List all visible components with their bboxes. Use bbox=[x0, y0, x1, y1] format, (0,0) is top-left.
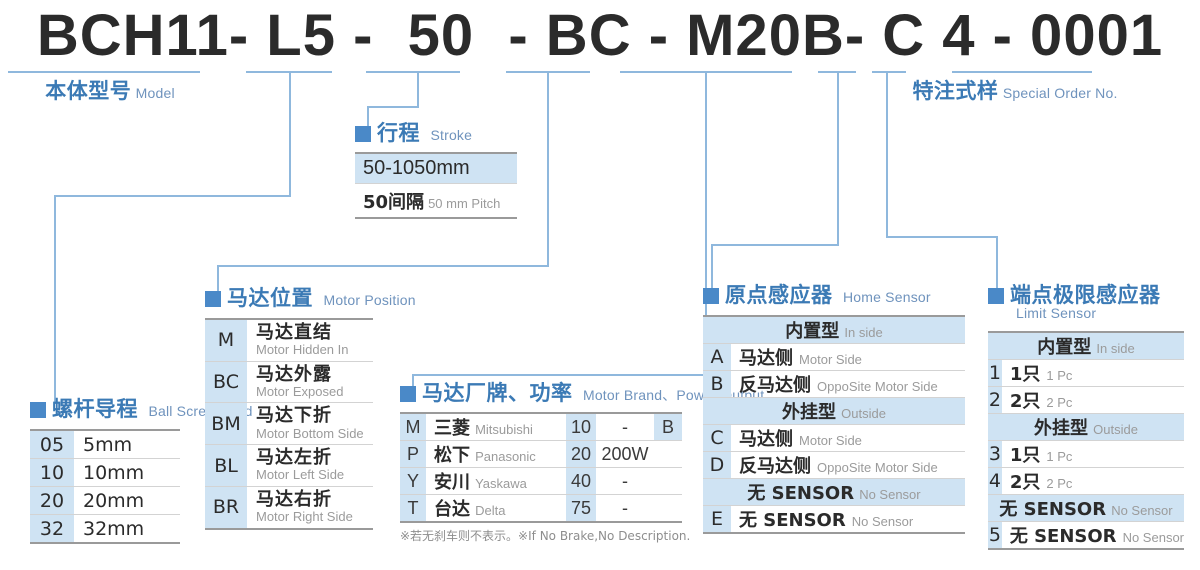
motor-brand-table: M 三菱 Mitsubishi 10 - B P 松下 Panasonic 20… bbox=[400, 412, 682, 523]
row-power-code: 75 bbox=[566, 495, 596, 523]
row-value-zh: 2只 bbox=[1010, 472, 1041, 493]
row-power-value: - bbox=[596, 468, 654, 495]
motor-position-zh-title: 马达位置 bbox=[227, 286, 313, 310]
table-row[interactable]: D 反马达侧 OppoSite Motor Side bbox=[703, 452, 965, 479]
row-value-zh: 马达右折 bbox=[256, 490, 373, 510]
row-value: 10mm bbox=[74, 459, 180, 487]
group-zh: 内置型 bbox=[785, 321, 839, 342]
row-value-en: Motor Left Side bbox=[256, 468, 373, 483]
stroke-table: 50-1050mm 50间隔50 mm Pitch bbox=[355, 152, 517, 219]
row-brand: 台达 Delta bbox=[426, 495, 566, 523]
limit-sensor-heading: 端点极限感应器 Limit Sensor bbox=[988, 284, 1200, 322]
table-row[interactable]: A 马达侧 Motor Side bbox=[703, 344, 965, 371]
row-brand: 松下 Panasonic bbox=[426, 441, 566, 468]
table-row[interactable]: 20 20mm bbox=[30, 487, 180, 515]
special-order-en-title: Special Order No. bbox=[1003, 85, 1118, 101]
row-value-en: OppoSite Motor Side bbox=[817, 460, 938, 475]
row-code: 05 bbox=[30, 430, 74, 459]
row-value-en: No Sensor bbox=[1123, 530, 1184, 545]
row-value-en: Motor Hidden In bbox=[256, 343, 373, 358]
brand-zh: 安川 bbox=[434, 472, 470, 493]
row-code: 32 bbox=[30, 515, 74, 544]
bullet-square-icon bbox=[988, 288, 1004, 304]
row-value: 马达侧 Motor Side bbox=[731, 425, 965, 452]
row-value: 马达直结 Motor Hidden In bbox=[247, 319, 373, 361]
group-header: 内置型 In side bbox=[703, 316, 965, 344]
table-row[interactable]: 10 10mm bbox=[30, 459, 180, 487]
table-row[interactable]: M 马达直结 Motor Hidden In bbox=[205, 319, 373, 361]
ball-screw-lead-zh-title: 螺杆导程 bbox=[52, 397, 138, 421]
stroke-pitch-en: 50 mm Pitch bbox=[428, 196, 500, 211]
bullet-square-icon bbox=[205, 291, 221, 307]
table-row[interactable]: BM 马达下折 Motor Bottom Side bbox=[205, 403, 373, 445]
row-value-zh: 马达侧 bbox=[739, 348, 793, 369]
table-row[interactable]: Y 安川 Yaskawa 40 - bbox=[400, 468, 682, 495]
row-value-zh: 马达左折 bbox=[256, 448, 373, 468]
row-value: 5mm bbox=[74, 430, 180, 459]
row-value-zh: 马达直结 bbox=[256, 323, 373, 343]
table-row[interactable]: BR 马达右折 Motor Right Side bbox=[205, 486, 373, 528]
limit-sensor-en-title: Limit Sensor bbox=[1016, 305, 1096, 321]
group-en: Outside bbox=[1093, 422, 1138, 437]
row-code: 5 bbox=[988, 522, 1002, 550]
row-value-en: 1 Pc bbox=[1046, 368, 1072, 383]
table-row[interactable]: 5 无 SENSOR No Sensor bbox=[988, 522, 1184, 550]
row-code: BM bbox=[205, 403, 247, 445]
group-zh: 无 SENSOR bbox=[747, 483, 854, 504]
model-code-diagram: BCH11- L5 - 50 - BC - M20B- C 4 - 0001 bbox=[0, 0, 1200, 570]
table-row[interactable]: 1 1只 1 Pc bbox=[988, 360, 1184, 387]
row-value-en: Motor Bottom Side bbox=[256, 427, 373, 442]
row-power-code: 10 bbox=[566, 413, 596, 441]
stroke-range-cell: 50-1050mm bbox=[355, 153, 517, 184]
row-power-code: 40 bbox=[566, 468, 596, 495]
table-group-row: 外挂型 Outside bbox=[703, 398, 965, 425]
row-power-value: - bbox=[596, 495, 654, 523]
stroke-range-value: 50-1050mm bbox=[363, 157, 470, 179]
row-value-en: Motor Exposed bbox=[256, 385, 373, 400]
table-group-row: 内置型 In side bbox=[988, 332, 1184, 360]
group-zh: 外挂型 bbox=[782, 402, 836, 423]
row-value: 反马达侧 OppoSite Motor Side bbox=[731, 371, 965, 398]
stroke-heading: 行程 Stroke bbox=[355, 122, 517, 144]
row-value-en: 1 Pc bbox=[1046, 449, 1072, 464]
row-value-en: No Sensor bbox=[852, 514, 913, 529]
row-value-zh: 反马达侧 bbox=[739, 456, 811, 477]
table-row[interactable]: 05 5mm bbox=[30, 430, 180, 459]
section-limit-sensor: 端点极限感应器 Limit Sensor 内置型 In side 1 1只 1 … bbox=[988, 284, 1200, 550]
row-code: D bbox=[703, 452, 731, 479]
stroke-zh-title: 行程 bbox=[377, 121, 420, 145]
row-value: 1只 1 Pc bbox=[1002, 360, 1184, 387]
row-value: 2只 2 Pc bbox=[1002, 387, 1184, 414]
table-row[interactable]: BL 马达左折 Motor Left Side bbox=[205, 445, 373, 487]
row-value-en: 2 Pc bbox=[1046, 395, 1072, 410]
group-en: In side bbox=[1096, 341, 1134, 356]
row-code: C bbox=[703, 425, 731, 452]
row-value-en: OppoSite Motor Side bbox=[817, 379, 938, 394]
row-code: B bbox=[703, 371, 731, 398]
row-value: 无 SENSOR No Sensor bbox=[1002, 522, 1184, 550]
home-sensor-zh-title: 原点感应器 bbox=[725, 283, 833, 307]
special-order-zh-title: 特注式样 bbox=[912, 79, 998, 103]
table-row[interactable]: B 反马达侧 OppoSite Motor Side bbox=[703, 371, 965, 398]
row-value: 2只 2 Pc bbox=[1002, 468, 1184, 495]
home-sensor-heading: 原点感应器 Home Sensor bbox=[703, 284, 965, 306]
table-row[interactable]: 50-1050mm bbox=[355, 153, 517, 184]
table-group-row: 无 SENSOR No Sensor bbox=[703, 479, 965, 506]
section-stroke: 行程 Stroke 50-1050mm 50间隔50 mm Pitch bbox=[355, 122, 517, 219]
home-sensor-table: 内置型 In side A 马达侧 Motor Side B 反马达侧 Oppo… bbox=[703, 315, 965, 534]
row-code: 4 bbox=[988, 468, 1002, 495]
row-code: BC bbox=[205, 361, 247, 403]
row-code: BR bbox=[205, 486, 247, 528]
row-value-zh: 马达侧 bbox=[739, 429, 793, 450]
bullet-square-icon bbox=[355, 126, 371, 142]
row-value: 马达左折 Motor Left Side bbox=[247, 445, 373, 487]
row-value-en: Motor Side bbox=[799, 352, 862, 367]
row-value-zh: 无 SENSOR bbox=[739, 510, 846, 531]
row-value-en: 2 Pc bbox=[1046, 476, 1072, 491]
table-row[interactable]: P 松下 Panasonic 20 200W bbox=[400, 441, 682, 468]
row-code: 20 bbox=[30, 487, 74, 515]
brand-zh: 三菱 bbox=[434, 418, 470, 439]
stroke-pitch-cell: 50间隔50 mm Pitch bbox=[355, 184, 517, 219]
ball-screw-lead-table: 05 5mm 10 10mm 20 20mm 32 32mm bbox=[30, 429, 180, 544]
row-code: 1 bbox=[988, 360, 1002, 387]
section-model: 本体型号 Model bbox=[20, 80, 200, 103]
row-value-zh: 1只 bbox=[1010, 445, 1041, 466]
group-en: No Sensor bbox=[859, 487, 920, 502]
bullet-square-icon bbox=[400, 386, 416, 402]
row-code: M bbox=[400, 413, 426, 441]
row-value-zh: 无 SENSOR bbox=[1010, 526, 1117, 547]
stroke-pitch-zh: 50间隔 bbox=[363, 192, 424, 213]
row-value: 马达下折 Motor Bottom Side bbox=[247, 403, 373, 445]
group-header: 外挂型 Outside bbox=[988, 414, 1184, 441]
brand-en: Delta bbox=[475, 503, 505, 518]
row-value: 32mm bbox=[74, 515, 180, 544]
stroke-en-title: Stroke bbox=[430, 127, 472, 143]
section-special-order: 特注式样 Special Order No. bbox=[900, 80, 1130, 103]
row-value-zh: 马达下折 bbox=[256, 406, 373, 426]
row-code: A bbox=[703, 344, 731, 371]
row-power-value: - bbox=[596, 413, 654, 441]
group-en: No Sensor bbox=[1111, 503, 1172, 518]
group-header: 外挂型 Outside bbox=[703, 398, 965, 425]
group-header: 内置型 In side bbox=[988, 332, 1184, 360]
row-value: 马达外露 Motor Exposed bbox=[247, 361, 373, 403]
group-header: 无 SENSOR No Sensor bbox=[703, 479, 965, 506]
row-code: Y bbox=[400, 468, 426, 495]
brand-en: Panasonic bbox=[475, 449, 536, 464]
brand-zh: 松下 bbox=[434, 445, 470, 466]
group-zh: 无 SENSOR bbox=[999, 499, 1106, 520]
row-power-value: 200W bbox=[596, 441, 654, 468]
table-row[interactable]: 4 2只 2 Pc bbox=[988, 468, 1184, 495]
table-row[interactable]: 3 1只 1 Pc bbox=[988, 441, 1184, 468]
row-value: 反马达侧 OppoSite Motor Side bbox=[731, 452, 965, 479]
row-code: E bbox=[703, 506, 731, 534]
bullet-square-icon bbox=[703, 288, 719, 304]
group-zh: 外挂型 bbox=[1034, 418, 1088, 439]
table-group-row: 无 SENSOR No Sensor bbox=[988, 495, 1184, 522]
row-value-zh: 2只 bbox=[1010, 391, 1041, 412]
row-value-zh: 1只 bbox=[1010, 364, 1041, 385]
row-value: 马达右折 Motor Right Side bbox=[247, 486, 373, 528]
group-header: 无 SENSOR No Sensor bbox=[988, 495, 1184, 522]
row-value: 1只 1 Pc bbox=[1002, 441, 1184, 468]
section-motor-position: 马达位置 Motor Position M 马达直结 Motor Hidden … bbox=[205, 287, 416, 530]
row-value-zh: 马达外露 bbox=[256, 365, 373, 385]
row-value: 马达侧 Motor Side bbox=[731, 344, 965, 371]
motor-position-table: M 马达直结 Motor Hidden In BC 马达外露 Motor Exp… bbox=[205, 318, 373, 530]
table-row[interactable]: C 马达侧 Motor Side bbox=[703, 425, 965, 452]
row-brake-code bbox=[654, 495, 682, 523]
row-value: 20mm bbox=[74, 487, 180, 515]
group-en: Outside bbox=[841, 406, 886, 421]
table-row[interactable]: 2 2只 2 Pc bbox=[988, 387, 1184, 414]
row-code: 2 bbox=[988, 387, 1002, 414]
table-row[interactable]: BC 马达外露 Motor Exposed bbox=[205, 361, 373, 403]
model-en-title: Model bbox=[136, 85, 175, 101]
motor-brand-zh-title: 马达厂牌、功率 bbox=[422, 381, 573, 405]
bullet-square-icon bbox=[30, 402, 46, 418]
brand-en: Yaskawa bbox=[475, 476, 527, 491]
group-en: In side bbox=[844, 325, 882, 340]
row-code: 10 bbox=[30, 459, 74, 487]
row-value-en: Motor Side bbox=[799, 433, 862, 448]
row-value-zh: 反马达侧 bbox=[739, 375, 811, 396]
table-row[interactable]: 50间隔50 mm Pitch bbox=[355, 184, 517, 219]
table-row[interactable]: T 台达 Delta 75 - bbox=[400, 495, 682, 523]
brand-en: Mitsubishi bbox=[475, 422, 533, 437]
row-value: 无 SENSOR No Sensor bbox=[731, 506, 965, 534]
row-brake-code bbox=[654, 441, 682, 468]
row-value-en: Motor Right Side bbox=[256, 510, 373, 525]
row-brand: 三菱 Mitsubishi bbox=[426, 413, 566, 441]
row-brand: 安川 Yaskawa bbox=[426, 468, 566, 495]
section-home-sensor: 原点感应器 Home Sensor 内置型 In side A 马达侧 Moto… bbox=[703, 284, 965, 534]
motor-position-en-title: Motor Position bbox=[323, 292, 415, 308]
table-group-row: 外挂型 Outside bbox=[988, 414, 1184, 441]
row-code: T bbox=[400, 495, 426, 523]
brand-zh: 台达 bbox=[434, 499, 470, 520]
row-brake-code bbox=[654, 468, 682, 495]
table-row[interactable]: M 三菱 Mitsubishi 10 - B bbox=[400, 413, 682, 441]
row-power-code: 20 bbox=[566, 441, 596, 468]
model-zh-title: 本体型号 bbox=[45, 79, 131, 103]
table-row[interactable]: 32 32mm bbox=[30, 515, 180, 544]
table-group-row: 内置型 In side bbox=[703, 316, 965, 344]
group-zh: 内置型 bbox=[1037, 337, 1091, 358]
row-code: P bbox=[400, 441, 426, 468]
row-code: BL bbox=[205, 445, 247, 487]
limit-sensor-table: 内置型 In side 1 1只 1 Pc 2 2只 2 Pc bbox=[988, 331, 1184, 550]
limit-sensor-zh-title: 端点极限感应器 bbox=[1010, 283, 1161, 307]
row-code: 3 bbox=[988, 441, 1002, 468]
row-code: M bbox=[205, 319, 247, 361]
row-brake-code: B bbox=[654, 413, 682, 441]
home-sensor-en-title: Home Sensor bbox=[843, 289, 931, 305]
motor-position-heading: 马达位置 Motor Position bbox=[205, 287, 416, 309]
table-row[interactable]: E 无 SENSOR No Sensor bbox=[703, 506, 965, 534]
